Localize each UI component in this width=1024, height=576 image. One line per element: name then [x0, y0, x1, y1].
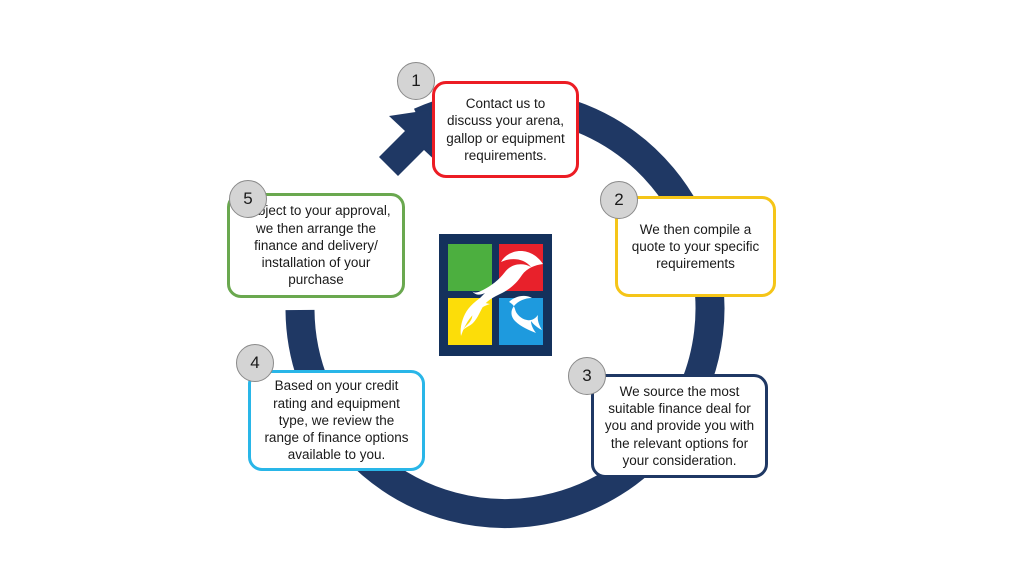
step-5-number-badge: 5	[229, 180, 267, 218]
step-2-number-badge: 2	[600, 181, 638, 219]
step-2-text: We then compile a quote to your specific…	[627, 221, 764, 273]
step-3-text: We source the most suitable finance deal…	[603, 383, 756, 469]
company-logo	[439, 234, 552, 356]
step-box-1[interactable]: Contact us to discuss your arena, gallop…	[432, 81, 579, 178]
step-box-2[interactable]: We then compile a quote to your specific…	[615, 196, 776, 297]
step-5-text: Subject to your approval, we then arrang…	[239, 202, 393, 288]
step-3-number: 3	[582, 366, 591, 386]
step-1-number-badge: 1	[397, 62, 435, 100]
diagram-canvas: Contact us to discuss your arena, gallop…	[0, 0, 1024, 576]
step-4-number: 4	[250, 353, 259, 373]
logo-quadrant-top-left	[448, 244, 492, 291]
step-1-number: 1	[411, 71, 420, 91]
step-1-text: Contact us to discuss your arena, gallop…	[444, 95, 567, 164]
step-4-number-badge: 4	[236, 344, 274, 382]
step-2-number: 2	[614, 190, 623, 210]
step-4-text: Based on your credit rating and equipmen…	[260, 377, 413, 463]
step-5-number: 5	[243, 189, 252, 209]
step-box-3[interactable]: We source the most suitable finance deal…	[591, 374, 768, 478]
step-box-4[interactable]: Based on your credit rating and equipmen…	[248, 370, 425, 471]
ring-arrowhead	[379, 110, 440, 176]
step-3-number-badge: 3	[568, 357, 606, 395]
